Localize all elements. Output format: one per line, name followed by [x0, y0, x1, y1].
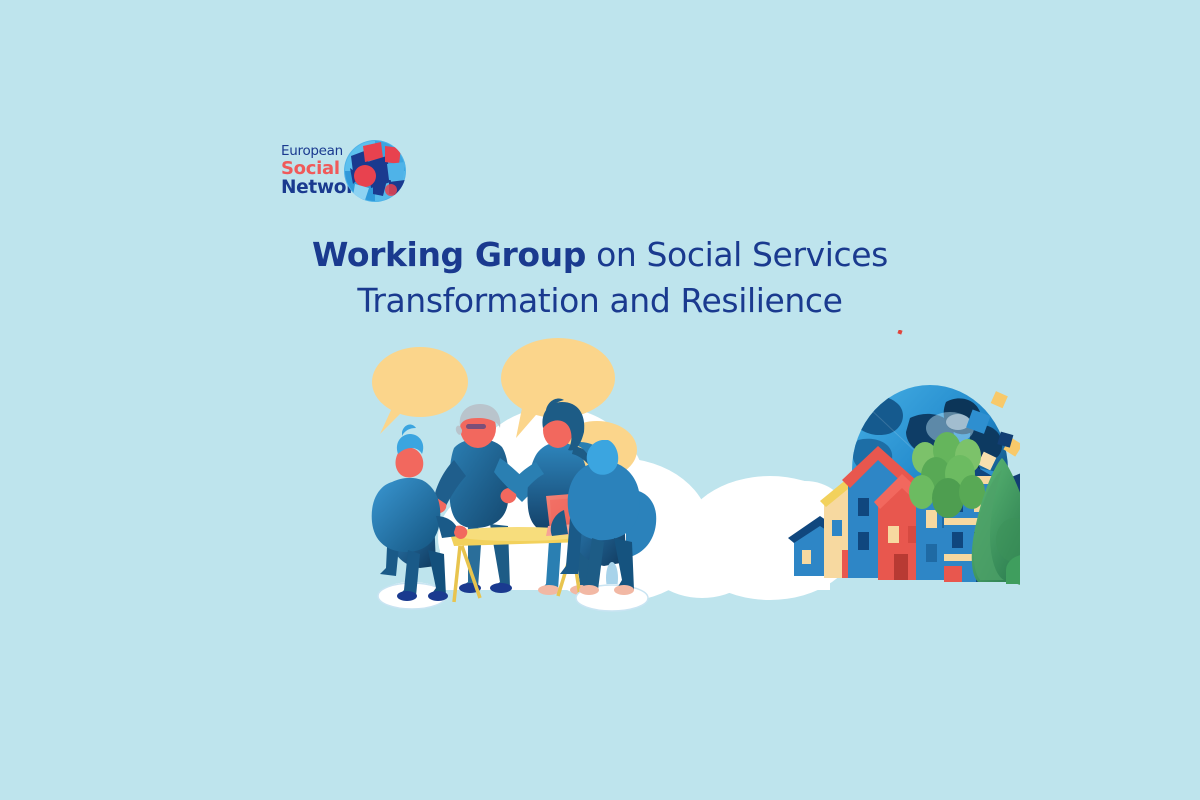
- globe-speech-bubbles-icon: [343, 138, 407, 209]
- page-title-line-1: Working Group on Social Services: [0, 232, 1200, 278]
- page-title-bold: Working Group: [312, 235, 586, 274]
- poster-canvas: European Social Network: [0, 0, 1200, 800]
- page-title-regular: on Social Services: [586, 235, 888, 274]
- speech-bubble-left: [372, 347, 468, 434]
- page-title: Working Group on Social Services Transfo…: [0, 232, 1200, 324]
- page-title-line-2: Transformation and Resilience: [0, 278, 1200, 324]
- round-tree-cluster: [909, 432, 985, 536]
- logo[interactable]: European Social Network: [281, 138, 409, 208]
- globe-town-scene: [763, 330, 1020, 587]
- hero-illustration: [350, 330, 1020, 630]
